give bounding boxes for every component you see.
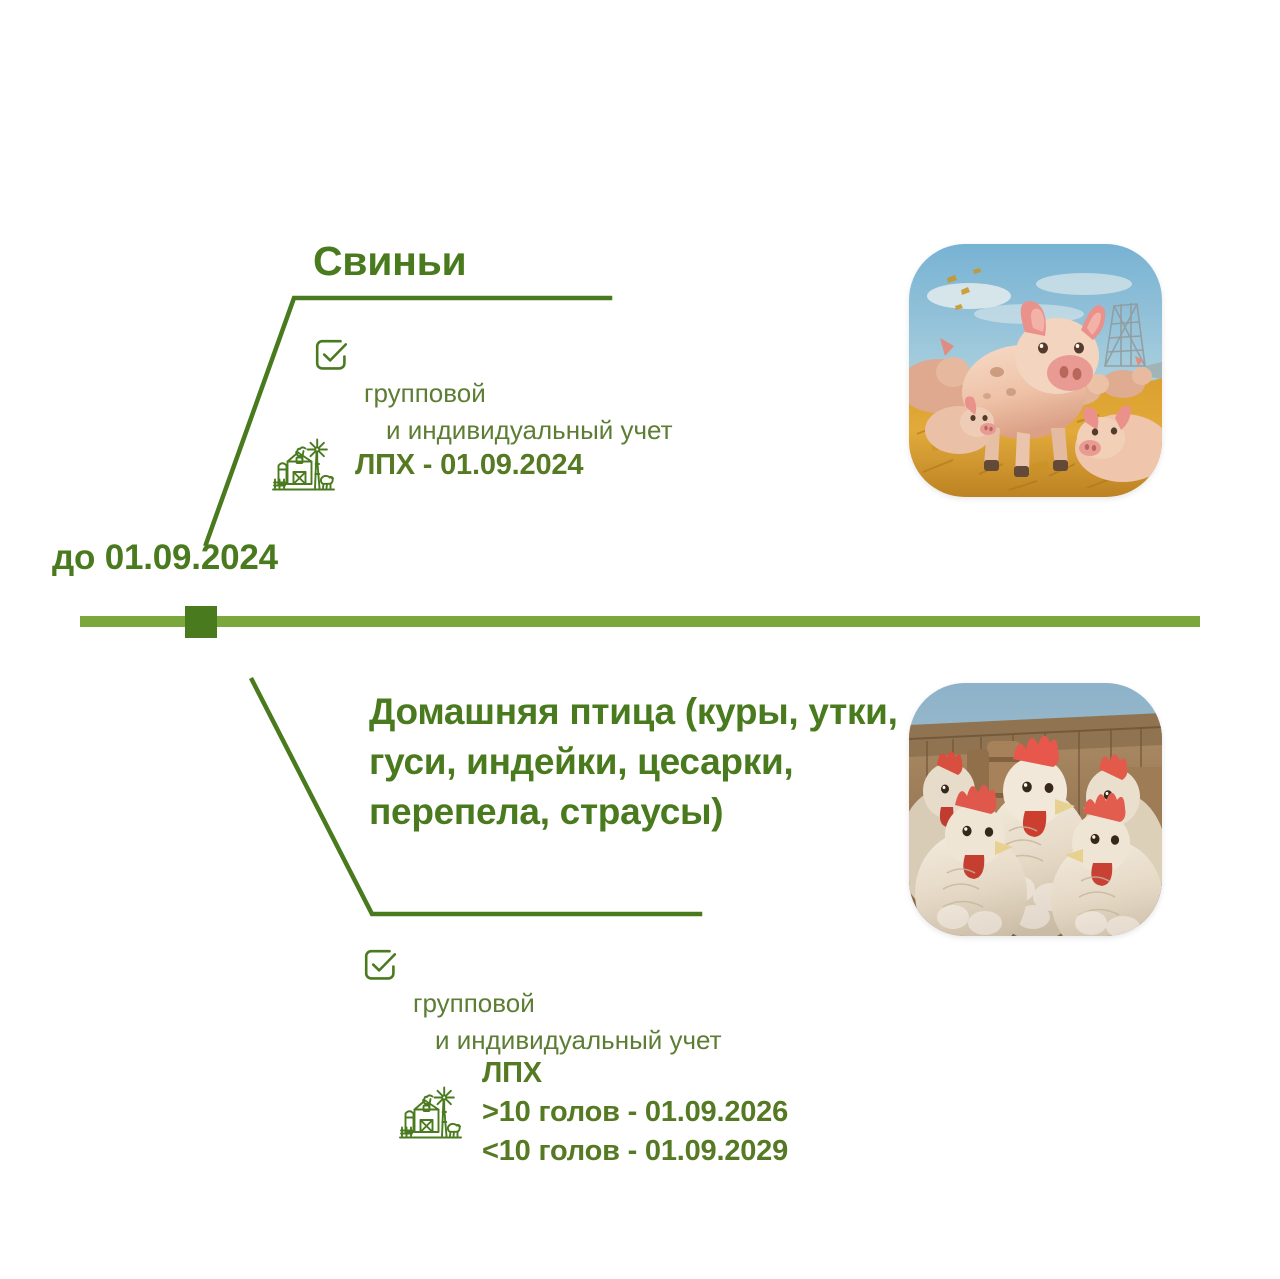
farm-barn-icon [271,432,337,498]
pigs-accounting-line1: групповой [364,378,486,408]
poultry-lph-row: ЛПХ >10 голов - 01.09.2026 <10 голов - 0… [398,1054,788,1171]
pigs-lph-row: ЛПХ - 01.09.2024 [271,432,583,498]
timeline-marker-2024[interactable] [185,606,217,638]
checkbox-check-icon [363,948,397,982]
pigs-lph-text: ЛПХ - 01.09.2024 [355,446,583,485]
chickens-photo [909,683,1162,936]
poultry-lph-line3: <10 голов - 01.09.2029 [482,1132,788,1171]
farm-barn-icon [398,1080,464,1146]
timeline-axis [80,616,1200,627]
poultry-lph-text-block: ЛПХ >10 голов - 01.09.2026 <10 голов - 0… [482,1054,788,1171]
checkbox-check-icon [314,338,348,372]
pigs-section-title: Свиньи [313,236,466,286]
poultry-bracket-line [248,676,708,926]
timeline-date-label: до 01.09.2024 [52,538,278,578]
poultry-accounting-line1: групповой [413,988,535,1018]
pigs-photo [909,244,1162,497]
poultry-lph-line2: >10 голов - 01.09.2026 [482,1093,788,1132]
infographic-canvas: Свиньи групповой и индивидуальный учет [0,0,1280,1279]
poultry-lph-line1: ЛПХ [482,1054,788,1093]
